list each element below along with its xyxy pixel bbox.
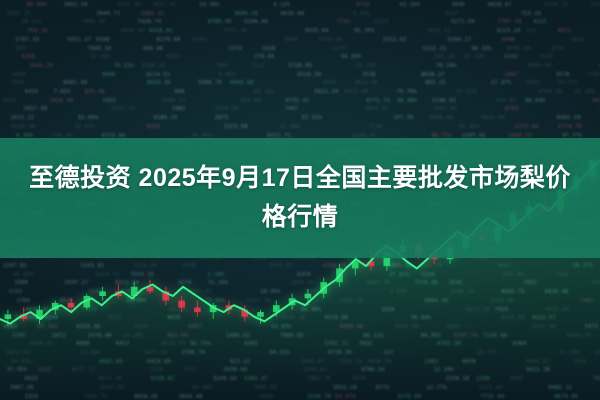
headline-block: 至德投资 2025年9月17日全国主要批发市场梨价 格行情 [0, 138, 600, 258]
headline-line-2: 格行情 [262, 199, 339, 236]
headline-line-1: 至德投资 2025年9月17日全国主要批发市场梨价 [29, 160, 571, 197]
pear-price-news-banner: 80.84%5852.543731.803627.4224.36%4.12%67… [0, 0, 600, 400]
